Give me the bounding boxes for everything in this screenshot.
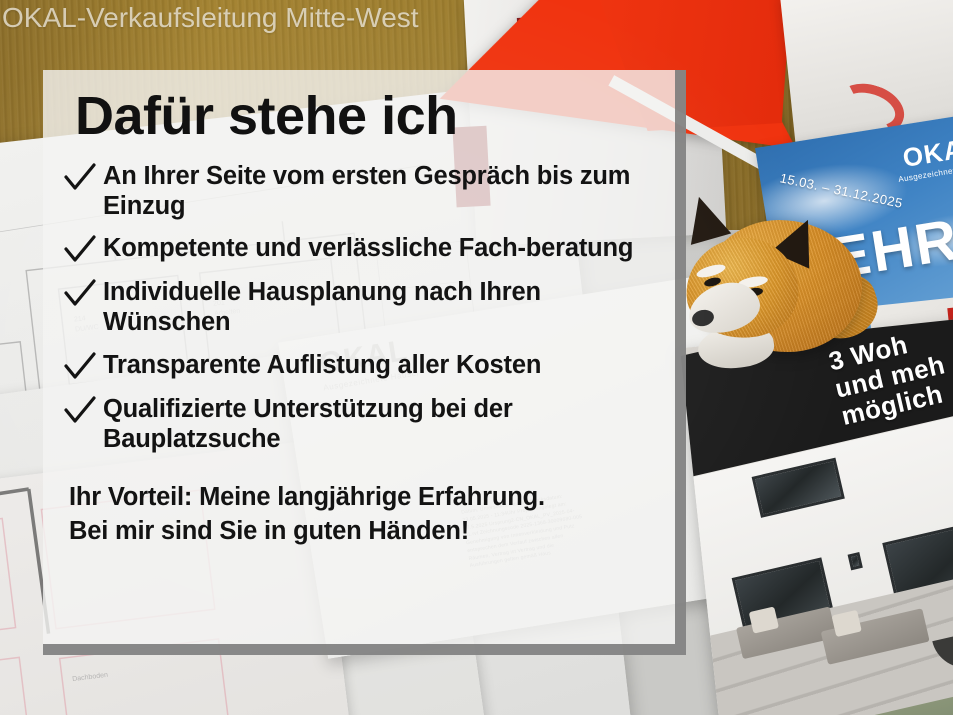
list-item-label: Qualifizierte Unterstützung bei der Baup… [103,394,655,454]
brochure-house-photo: 3 Woh und meh möglich *Aktion nur gültig… [680,314,953,715]
svg-text:Dachboden: Dachboden [72,672,108,683]
closing-line-1: Ihr Vorteil: Meine langjährige Erfahrung… [69,480,657,515]
fox-ear-left [679,191,732,245]
page-title: Dafür stehe ich [75,88,657,145]
content-panel: Dafür stehe ich An Ihrer Seite vom erste… [43,70,686,655]
check-icon [63,235,103,265]
brochure-blue-brand: OKAL Ausgezeichnete Häuser [893,130,953,184]
list-item: An Ihrer Seite vom ersten Gespräch bis z… [63,161,657,221]
closing-line-2: Bei mir sind Sie in guten Händen! [69,514,657,549]
list-item: Individuelle Hausplanung nach Ihren Wüns… [63,277,657,337]
list-item-label: Transparente Auflistung aller Kosten [103,350,541,380]
list-item-label: An Ihrer Seite vom ersten Gespräch bis z… [103,161,655,221]
window-title: OKAL-Verkaufsleitung Mitte-West [2,2,419,34]
list-item: Transparente Auflistung aller Kosten [63,350,657,382]
fox-plush-figure [680,180,870,370]
check-icon [63,163,103,193]
list-item-label: Individuelle Hausplanung nach Ihren Wüns… [103,277,655,337]
list-item: Qualifizierte Unterstützung bei der Baup… [63,394,657,454]
list-item-label: Kompetente und verlässliche Fach-beratun… [103,233,633,263]
check-icon [63,396,103,426]
check-icon [63,279,103,309]
check-icon [63,352,103,382]
list-item: Kompetente und verlässliche Fach-beratun… [63,233,657,265]
screenshot-root: 214 DU/WC 201 Arbeiten 205 207 2 14 m² [0,0,953,715]
closing-statement: Ihr Vorteil: Meine langjährige Erfahrung… [69,480,657,549]
benefits-list: An Ihrer Seite vom ersten Gespräch bis z… [63,161,657,453]
